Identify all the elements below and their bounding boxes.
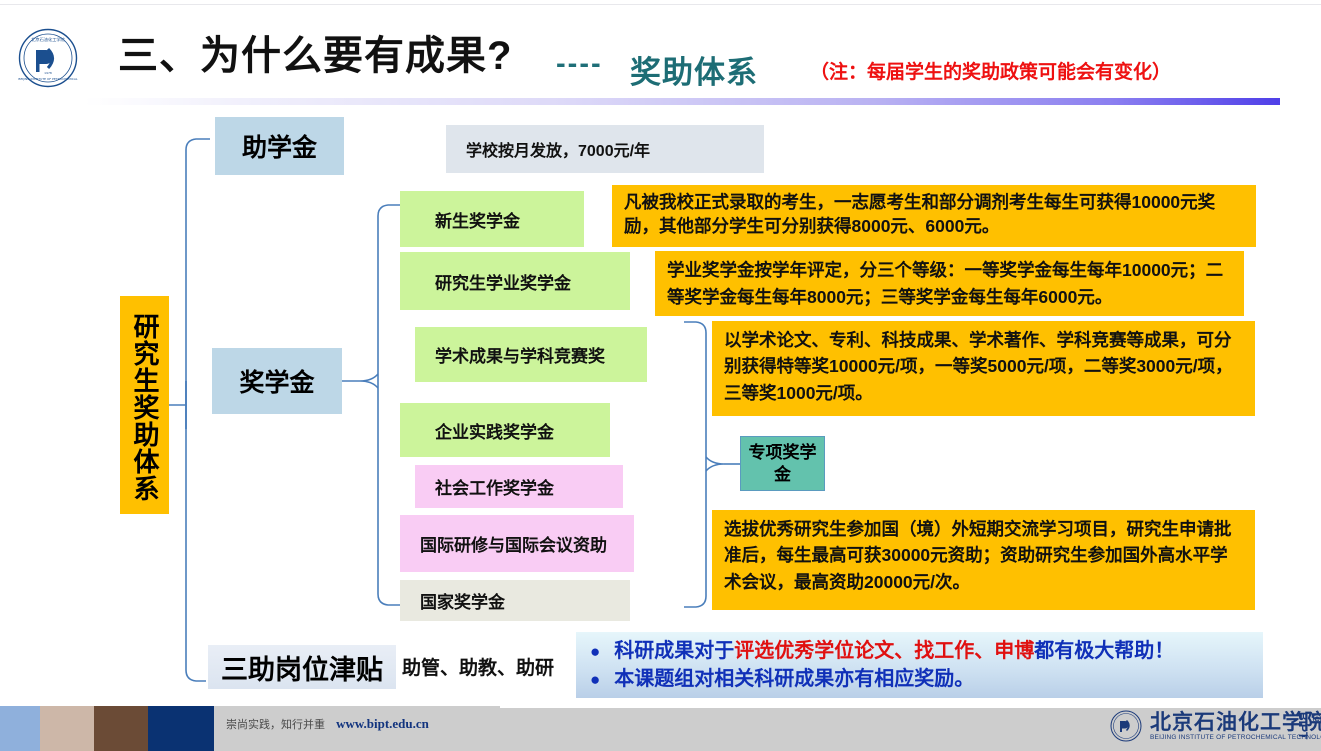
page-title: 三、为什么要有成果? — [118, 36, 512, 76]
title-dash: ---- — [556, 48, 603, 81]
award-label: 国际研修与国际会议资助 — [420, 531, 634, 556]
award-item-shehui-gongzuo[interactable]: 社会工作奖学金 — [415, 465, 623, 508]
award-label: 研究生学业奖学金 — [435, 269, 630, 294]
note-xueye: 学业奖学金按学年评定，分三个等级：一等奖学金每生每年10000元；二等奖学金每生… — [655, 251, 1244, 316]
note-guoji: 选拔优秀研究生参加国（境）外短期交流学习项目，研究生申请批准后，每生最高可获30… — [712, 510, 1255, 610]
zhuxuejin-description-text: 学校按月发放，7000元/年 — [466, 137, 764, 161]
sanzhu-description-text: 助管、助教、助研 — [402, 653, 554, 680]
award-label: 新生奖学金 — [435, 207, 584, 232]
award-label: 国家奖学金 — [420, 588, 630, 613]
zhuxuejin-description-box: 学校按月发放，7000元/年 — [446, 125, 764, 173]
note-xueshu: 以学术论文、专利、科技成果、学术著作、学科竞赛等成果，可分别获得特等奖10000… — [712, 321, 1255, 416]
award-label: 企业实践奖学金 — [435, 418, 610, 443]
footer-swatch-3 — [94, 706, 148, 751]
key-points-panel: ● 科研成果对于评选优秀学位论文、找工作、申博都有极大帮助！ ● 本课题组对相关… — [576, 632, 1263, 698]
special-scholarship-label: 专项奖学金 — [741, 442, 824, 485]
footer-swatch-4 — [148, 706, 214, 751]
svg-text:北京石油化工学院: 北京石油化工学院 — [31, 36, 65, 43]
award-item-guojia[interactable]: 国家奖学金 — [400, 580, 630, 621]
bipt-seal-logo-icon-small — [1110, 710, 1142, 742]
note-xinsheng: 凡被我校正式录取的考生，一志愿考生和部分调剂考生每生可获得10000元奖励，其他… — [612, 185, 1256, 247]
award-label: 社会工作奖学金 — [435, 474, 623, 499]
footer-top-white-strip — [500, 700, 1321, 708]
footer-url-link[interactable]: www.bipt.edu.cn — [336, 716, 429, 731]
bipt-seal-logo-icon: 北京石油化工学院 BEIJING INSTITUTE OF PETROCHEMI… — [18, 28, 78, 88]
category-node-jiangxuejin[interactable]: 奖学金 — [212, 348, 342, 414]
special-scholarship-node[interactable]: 专项奖学金 — [740, 436, 825, 491]
svg-text:1978: 1978 — [44, 71, 52, 75]
bullet-text-pre: 本课题组对相关科研成果亦有相应奖励。 — [614, 665, 974, 693]
slide-canvas: 北京石油化工学院 BEIJING INSTITUTE OF PETROCHEMI… — [0, 0, 1321, 751]
footer-motto: 崇尚实践，知行并重 www.bipt.edu.cn — [226, 716, 429, 732]
award-item-guoji-yanxiu[interactable]: 国际研修与国际会议资助 — [400, 515, 634, 572]
award-label: 学术成果与学科竞赛奖 — [435, 342, 647, 367]
list-item: ● 本课题组对相关科研成果亦有相应奖励。 — [590, 665, 1263, 693]
list-item: ● 科研成果对于评选优秀学位论文、找工作、申博都有极大帮助！ — [590, 637, 1263, 665]
note-text: 学业奖学金按学年评定，分三个等级：一等奖学金每生每年10000元；二等奖学金每生… — [667, 257, 1234, 311]
category-label-zhuxuejin: 助学金 — [215, 128, 344, 164]
award-item-xueye[interactable]: 研究生学业奖学金 — [400, 252, 630, 310]
note-text: 凡被我校正式录取的考生，一志愿考生和部分调剂考生每生可获得10000元奖励，其他… — [624, 191, 1246, 238]
note-text: 选拔优秀研究生参加国（境）外短期交流学习项目，研究生申请批准后，每生最高可获30… — [724, 516, 1245, 595]
footer-school-identity: 北京石油化工学院 BEIJING INSTITUTE OF PETROCHEMI… — [1110, 710, 1321, 742]
award-item-xueshu-chengguo[interactable]: 学术成果与学科竞赛奖 — [415, 327, 647, 382]
svg-text:BEIJING INSTITUTE OF PETROCHEM: BEIJING INSTITUTE OF PETROCHEMICAL — [18, 77, 77, 81]
title-subtitle: 奖助体系 — [630, 47, 758, 92]
footer-swatch-2 — [40, 706, 94, 751]
top-divider — [0, 0, 1321, 5]
category-label-sanzhu: 三助岗位津贴 — [208, 648, 396, 687]
bullet-text-pre: 科研成果对于 — [614, 640, 734, 662]
footer-swatch-1 — [0, 706, 40, 751]
bullet-text-post: 都有极大帮助！ — [1034, 640, 1174, 662]
award-item-xinsheng[interactable]: 新生奖学金 — [400, 191, 584, 247]
note-text: 以学术论文、专利、科技成果、学术著作、学科竞赛等成果，可分别获得特等奖10000… — [724, 327, 1245, 406]
root-node-label: 研究生奖助体系 — [131, 313, 158, 502]
bullet-dot-icon: ● — [590, 668, 600, 692]
category-node-zhuxuejin[interactable]: 助学金 — [215, 117, 344, 175]
title-note: （注：每届学生的奖助政策可能会有变化） — [810, 57, 1171, 84]
award-item-qiye-shijian[interactable]: 企业实践奖学金 — [400, 403, 610, 457]
bullet-dot-icon: ● — [590, 640, 600, 664]
footer-motto-text: 崇尚实践，知行并重 — [226, 719, 325, 731]
footer-copyright: © BIPT — [1296, 712, 1321, 751]
root-node-graduate-award-system[interactable]: 研究生奖助体系 — [120, 296, 169, 514]
category-node-sanzhu[interactable]: 三助岗位津贴 — [208, 645, 396, 689]
header-gradient-rule — [84, 98, 1280, 105]
category-label-jiangxuejin: 奖学金 — [212, 363, 342, 399]
bullet-text-highlight: 评选优秀学位论文、找工作、申博 — [734, 640, 1034, 662]
